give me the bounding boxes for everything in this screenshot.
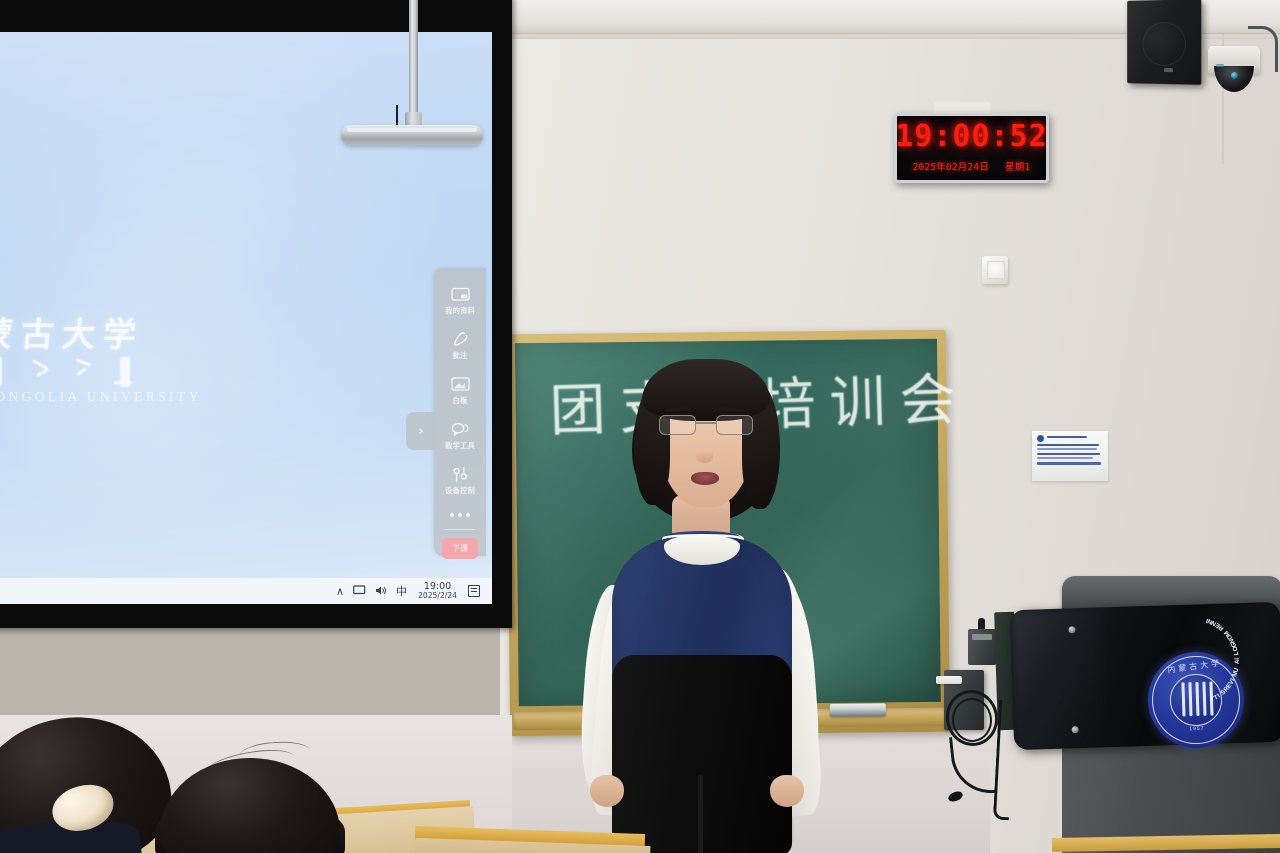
presenter-glasses <box>658 415 756 437</box>
dot-1 <box>450 513 454 517</box>
sign-title-line <box>1047 436 1087 438</box>
folder-materials-icon <box>451 286 470 303</box>
taskbar-date: 2025/2/24 <box>418 592 457 600</box>
camera-lens-icon <box>1231 72 1238 79</box>
ime-indicator[interactable]: 中 <box>396 586 407 597</box>
toolbar-label-device-control: 设备控制 <box>445 485 475 496</box>
network-icon[interactable] <box>353 585 366 598</box>
sign-line-2 <box>1037 448 1097 450</box>
logo-english-text: MONGOLIA UNIVERSITY <box>0 389 190 405</box>
teaching-tools-icon <box>451 421 470 438</box>
projection-screen-frame: 蒙古大学 MONGOLIA UNIVERSITY ∧ <box>0 0 512 628</box>
speaker-icon-svg <box>375 585 387 596</box>
toolbar-item-annotate[interactable]: 批注 <box>434 323 486 368</box>
presenter-mouth <box>691 472 719 485</box>
device-control-icon <box>451 466 470 483</box>
presenter-nose <box>696 450 713 463</box>
presenter-hand-right <box>770 775 804 807</box>
toolbar-collapse-handle[interactable]: › <box>406 412 436 450</box>
presenter-hand-left <box>590 775 624 807</box>
logo-mongolian-script <box>0 357 190 387</box>
dot-3 <box>466 513 470 517</box>
sign-header <box>1037 435 1103 442</box>
action-center-icon[interactable] <box>468 585 480 597</box>
classroom-scene: 19:00:52 2025年02月24日 星期1 团支部培训会 <box>0 0 1280 853</box>
clock-time: 19:00:52 <box>895 122 1048 152</box>
presenter <box>560 355 860 853</box>
university-seal-logo: 内蒙古大学 INNER MONGOLIA UNIVERSITY 1957 <box>1147 651 1246 750</box>
seal-en-char: A <box>1234 659 1241 664</box>
camera-label-mark <box>1216 64 1224 67</box>
sign-line-1 <box>1037 444 1099 446</box>
ceiling-light-bar <box>341 125 483 145</box>
toolbar-item-my-materials[interactable]: 我的资料 <box>434 278 486 323</box>
presenter-leg-seam <box>698 775 703 853</box>
windows-taskbar[interactable]: ∧ 中 19:00 2025/2/24 <box>0 578 492 604</box>
toolbar-label-whiteboard: 白板 <box>453 395 468 406</box>
toolbar-item-teaching-tools[interactable]: 教学工具 <box>434 413 486 458</box>
speaker-icon[interactable] <box>375 585 387 598</box>
clock-weekday: 星期1 <box>1005 159 1030 173</box>
toolbar-label-my-materials: 我的资料 <box>445 305 475 316</box>
toolbar-item-device-control[interactable]: 设备控制 <box>434 458 486 503</box>
sign-line-4 <box>1037 457 1093 459</box>
toolbar-item-whiteboard[interactable]: 白板 <box>434 368 486 413</box>
digital-wall-clock: 19:00:52 2025年02月24日 星期1 <box>894 113 1049 183</box>
pen-annotate-icon <box>451 331 470 348</box>
sign-line-3 <box>1037 453 1100 455</box>
slide-university-logo: 蒙古大学 MONGOLIA UNIVERSITY <box>0 318 190 405</box>
smartboard-toolbar[interactable]: 我的资料 批注 白板 <box>434 268 486 556</box>
glasses-lens-right <box>716 415 753 435</box>
wall-sensor-box <box>982 256 1008 284</box>
network-icon-svg <box>353 585 366 596</box>
toolbar-more-button[interactable] <box>434 503 486 527</box>
whiteboard-icon <box>451 376 470 393</box>
wall-information-sign <box>1032 431 1108 481</box>
wall-speaker <box>1127 0 1201 85</box>
wireless-mic-transmitter[interactable] <box>968 629 996 665</box>
speaker-led-icon <box>1164 68 1173 72</box>
toolbar-label-annotate: 批注 <box>453 350 468 361</box>
chevron-up-icon[interactable]: ∧ <box>336 586 344 597</box>
sign-badge-icon <box>1037 435 1044 442</box>
seal-en-char: L <box>1233 651 1240 656</box>
sign-footer-bar <box>1037 462 1101 465</box>
clock-date-row: 2025年02月24日 星期1 <box>913 159 1031 173</box>
dot-2 <box>458 513 462 517</box>
toolbar-label-teaching-tools: 教学工具 <box>445 440 475 451</box>
panel-reflection <box>1010 607 1104 750</box>
taskbar-clock[interactable]: 19:00 2025/2/24 <box>418 582 457 600</box>
glasses-lens-left <box>659 415 696 435</box>
clock-date: 2025年02月24日 <box>913 159 989 173</box>
presenter-hair-fringe <box>642 359 770 421</box>
chalk-holder-shelf <box>936 676 962 684</box>
end-class-button[interactable]: 下课 <box>442 538 478 559</box>
seal-english-ring: INNER MONGOLIA UNIVERSITY <box>1147 651 1246 750</box>
presenter-vest-rib <box>664 531 740 543</box>
glasses-bridge <box>696 422 716 424</box>
toolbar-divider <box>445 529 475 530</box>
logo-chinese-text: 蒙古大学 <box>0 318 191 351</box>
